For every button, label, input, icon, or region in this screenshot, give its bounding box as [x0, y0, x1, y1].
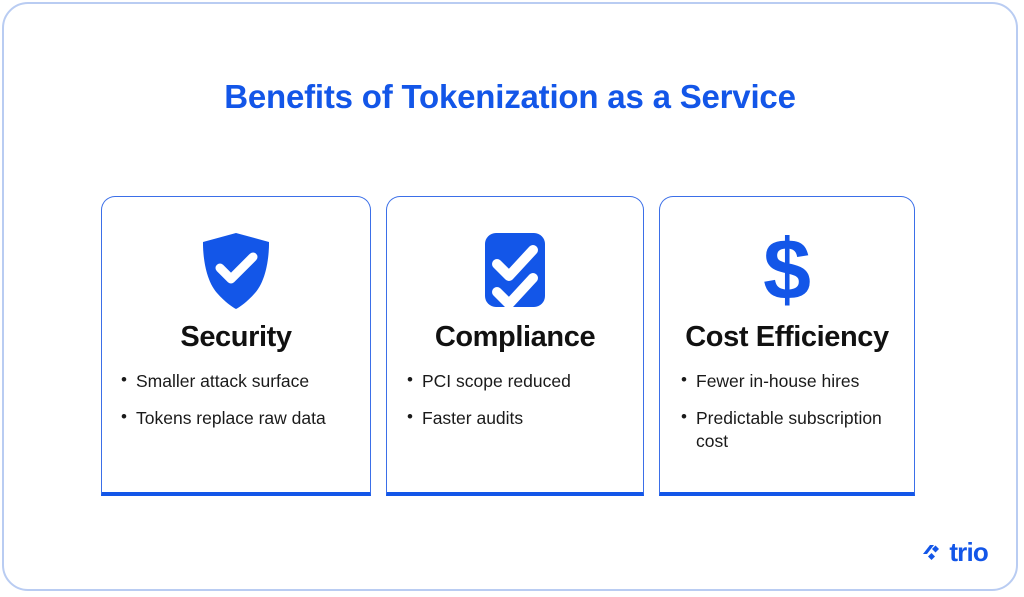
- benefit-card-cost-efficiency: $ Cost Efficiency Fewer in-house hires P…: [659, 196, 915, 496]
- list-item: Fewer in-house hires: [679, 370, 905, 393]
- double-check-square-icon: [480, 223, 550, 319]
- page-title: Benefits of Tokenization as a Service: [4, 78, 1016, 116]
- logo-text: trio: [949, 539, 988, 565]
- benefit-cards-row: Security Smaller attack surface Tokens r…: [101, 196, 915, 496]
- brand-logo: trio: [922, 539, 988, 565]
- dollar-sign-icon: $: [757, 223, 817, 319]
- list-item: PCI scope reduced: [405, 370, 633, 393]
- benefit-list: Fewer in-house hires Predictable subscri…: [669, 370, 905, 467]
- list-item: Smaller attack surface: [119, 370, 359, 393]
- list-item: Faster audits: [405, 407, 633, 430]
- svg-text:$: $: [763, 228, 811, 314]
- card-title: Security: [180, 321, 291, 354]
- shield-check-icon: [199, 223, 273, 319]
- card-title: Compliance: [435, 321, 595, 354]
- benefit-card-compliance: Compliance PCI scope reduced Faster audi…: [386, 196, 644, 496]
- list-item: Tokens replace raw data: [119, 407, 359, 430]
- benefit-card-security: Security Smaller attack surface Tokens r…: [101, 196, 371, 496]
- list-item: Predictable subscription cost: [679, 407, 905, 453]
- benefit-list: Smaller attack surface Tokens replace ra…: [113, 370, 359, 444]
- infographic-frame: Benefits of Tokenization as a Service Se…: [2, 2, 1018, 591]
- trio-logo-mark: [922, 542, 944, 562]
- benefit-list: PCI scope reduced Faster audits: [397, 370, 633, 444]
- card-title: Cost Efficiency: [685, 321, 889, 354]
